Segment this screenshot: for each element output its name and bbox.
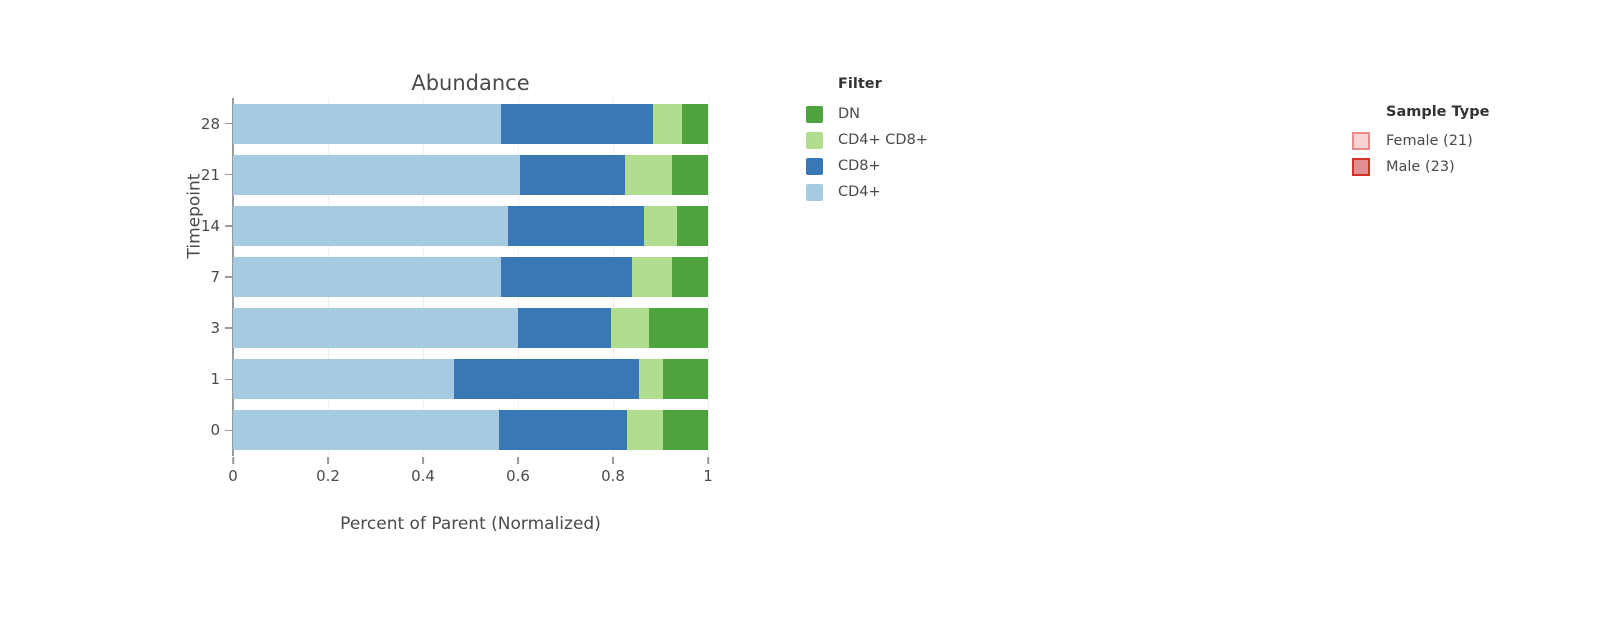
left-x-tick-mark (612, 457, 614, 464)
left-y-tick: 3 (170, 318, 232, 338)
filter-legend-item[interactable]: DN (806, 101, 928, 127)
bar-segment-cd4-cd8-[interactable] (639, 359, 663, 399)
left-x-tick-mark (707, 457, 709, 464)
sample-type-legend-items: Female (21)Male (23) (1352, 128, 1489, 180)
left-gridline (708, 98, 709, 456)
left-y-tick-label: 3 (210, 319, 220, 337)
bar-segment-cd4-cd8-[interactable] (611, 308, 649, 348)
left-y-tick-mark (225, 276, 232, 278)
bar-segment-cd8-[interactable] (520, 155, 625, 195)
bar-segment-dn[interactable] (649, 308, 708, 348)
left-y-tick-label: 28 (201, 115, 220, 133)
filter-legend-item[interactable]: CD4+ (806, 179, 928, 205)
bar-segment-cd8-[interactable] (501, 104, 653, 144)
stacked-bar-row[interactable] (233, 359, 708, 399)
bar-segment-cd4-[interactable] (233, 104, 501, 144)
bar-segment-cd4-cd8-[interactable] (625, 155, 673, 195)
box-plot-panel: Abundance Percent of Parent 3040506070 C… (960, 0, 1598, 632)
stacked-bar-row[interactable] (233, 206, 708, 246)
stacked-bar-row[interactable] (233, 104, 708, 144)
filter-legend-item[interactable]: CD8+ (806, 153, 928, 179)
left-y-tick: 28 (170, 114, 232, 134)
left-y-tick-label: 7 (210, 268, 220, 286)
left-x-tick: 0.8 (601, 457, 625, 485)
left-plot-area (233, 98, 708, 456)
left-y-tick: 14 (170, 216, 232, 236)
filter-legend-label: DN (838, 106, 860, 122)
left-x-axis-label: Percent of Parent (Normalized) (233, 514, 708, 534)
legend-swatch-icon (806, 158, 823, 175)
bar-segment-dn[interactable] (682, 104, 708, 144)
legend-swatch-icon (1352, 158, 1370, 176)
left-y-tick-mark (225, 430, 232, 432)
legend-swatch-icon (806, 106, 823, 123)
left-x-tick-label: 0.8 (601, 467, 625, 485)
legend-swatch-icon (806, 132, 823, 149)
left-x-tick-label: 0 (228, 467, 238, 485)
left-y-tick-label: 0 (210, 421, 220, 439)
left-x-tick-mark (327, 457, 329, 464)
filter-legend: Filter DNCD4+ CD8+CD8+CD4+ (806, 76, 928, 205)
bar-segment-cd8-[interactable] (508, 206, 644, 246)
bar-segment-cd4-cd8-[interactable] (632, 257, 672, 297)
left-y-tick-mark (225, 174, 232, 176)
bar-segment-cd8-[interactable] (501, 257, 632, 297)
left-x-tick: 0 (228, 457, 238, 485)
left-x-tick: 0.2 (316, 457, 340, 485)
filter-legend-label: CD4+ CD8+ (838, 132, 928, 148)
left-x-tick-label: 0.6 (506, 467, 530, 485)
bar-segment-cd4-[interactable] (233, 308, 518, 348)
filter-legend-title: Filter (838, 76, 928, 92)
sample-type-legend-label: Male (23) (1386, 159, 1455, 175)
bar-segment-cd4-[interactable] (233, 155, 520, 195)
stacked-bar-row[interactable] (233, 257, 708, 297)
left-x-tick-label: 0.2 (316, 467, 340, 485)
left-y-tick-label: 1 (210, 370, 220, 388)
sample-type-legend: Sample Type Female (21)Male (23) (1352, 104, 1489, 180)
legend-swatch-icon (1352, 132, 1370, 150)
bar-segment-dn[interactable] (672, 155, 708, 195)
left-y-tick: 21 (170, 165, 232, 185)
left-x-tick-mark (422, 457, 424, 464)
left-y-tick-mark (225, 327, 232, 329)
sample-type-legend-item[interactable]: Female (21) (1352, 128, 1489, 154)
bar-segment-cd8-[interactable] (518, 308, 611, 348)
filter-legend-item[interactable]: CD4+ CD8+ (806, 127, 928, 153)
figure-root: Abundance Timepoint Percent of Parent (N… (0, 0, 1598, 632)
bar-segment-cd4-[interactable] (233, 410, 499, 450)
sample-type-legend-title: Sample Type (1386, 104, 1489, 120)
left-y-tick: 1 (170, 369, 232, 389)
left-y-tick: 0 (170, 420, 232, 440)
bar-segment-dn[interactable] (663, 410, 708, 450)
filter-legend-items: DNCD4+ CD8+CD8+CD4+ (806, 101, 928, 205)
left-x-tick-mark (232, 457, 234, 464)
left-y-tick-mark (225, 379, 232, 381)
bar-segment-cd4-cd8-[interactable] (627, 410, 663, 450)
stacked-bar-row[interactable] (233, 410, 708, 450)
bar-segment-dn[interactable] (663, 359, 708, 399)
bar-segment-cd8-[interactable] (454, 359, 639, 399)
bar-segment-cd4-[interactable] (233, 359, 454, 399)
legend-swatch-icon (806, 184, 823, 201)
bar-segment-cd4-cd8-[interactable] (653, 104, 682, 144)
bar-segment-dn[interactable] (677, 206, 708, 246)
left-x-tick-label: 0.4 (411, 467, 435, 485)
left-y-tick-mark (225, 225, 232, 227)
left-x-tick: 1 (703, 457, 713, 485)
left-y-tick-mark (225, 123, 232, 125)
stacked-bar-row[interactable] (233, 308, 708, 348)
bar-segment-cd4-[interactable] (233, 206, 508, 246)
stacked-bar-row[interactable] (233, 155, 708, 195)
sample-type-legend-label: Female (21) (1386, 133, 1473, 149)
bar-segment-cd8-[interactable] (499, 410, 627, 450)
sample-type-legend-item[interactable]: Male (23) (1352, 154, 1489, 180)
bar-segment-cd4-[interactable] (233, 257, 501, 297)
filter-legend-label: CD8+ (838, 158, 881, 174)
left-y-tick: 7 (170, 267, 232, 287)
bar-segment-dn[interactable] (672, 257, 708, 297)
left-chart-title: Abundance (233, 71, 708, 95)
left-y-tick-label: 21 (201, 166, 220, 184)
left-x-tick-label: 1 (703, 467, 713, 485)
filter-legend-label: CD4+ (838, 184, 881, 200)
bar-segment-cd4-cd8-[interactable] (644, 206, 677, 246)
left-x-tick: 0.4 (411, 457, 435, 485)
stacked-bar-panel: Abundance Timepoint Percent of Parent (N… (0, 0, 780, 632)
left-x-tick: 0.6 (506, 457, 530, 485)
left-y-tick-label: 14 (201, 217, 220, 235)
left-x-tick-mark (517, 457, 519, 464)
